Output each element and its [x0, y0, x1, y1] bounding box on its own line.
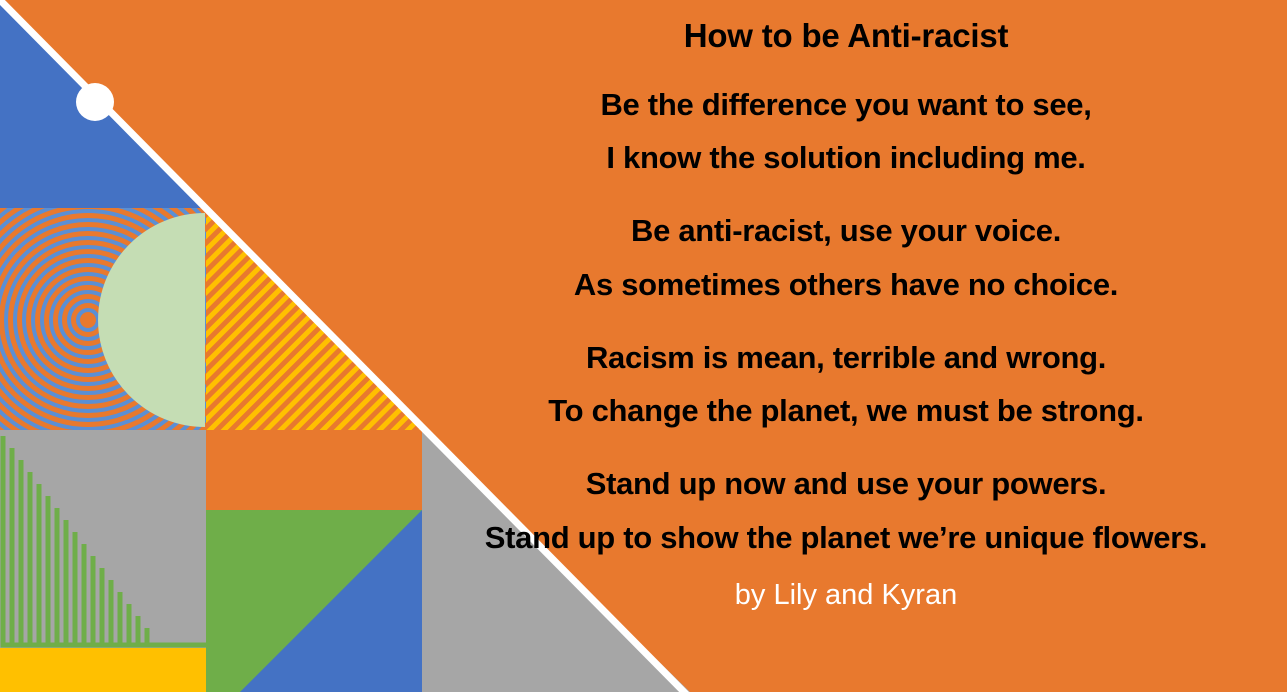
poem-text-column: How to be Anti-racist Be the difference …: [405, 0, 1287, 692]
poem-line: Stand up now and use your powers.: [485, 457, 1207, 510]
concentric-blue-rings: [0, 148, 260, 492]
stanza-3: Racism is mean, terrible and wrong. To c…: [548, 331, 1143, 438]
middle-band: [0, 148, 422, 492]
poem-line: Be the difference you want to see,: [600, 78, 1091, 131]
stanza-2: Be anti-racist, use your voice. As somet…: [574, 204, 1118, 311]
poem-line: Racism is mean, terrible and wrong.: [548, 331, 1143, 384]
page-title: How to be Anti-racist: [684, 16, 1009, 56]
top-band: [0, 0, 206, 208]
byline: by Lily and Kyran: [735, 578, 957, 613]
poster-canvas: How to be Anti-racist Be the difference …: [0, 0, 1287, 692]
blue-triangle-top-left: [0, 0, 206, 208]
poem-line: Be anti-racist, use your voice.: [574, 204, 1118, 257]
poem-line: As sometimes others have no choice.: [574, 258, 1118, 311]
poem-line: To change the planet, we must be strong.: [548, 384, 1143, 437]
green-nested-chevrons: [3, 436, 212, 645]
gray-panel-left: [0, 430, 206, 648]
yellow-striped-triangle: [206, 212, 422, 430]
poem-line: Stand up to show the planet we’re unique…: [485, 511, 1207, 564]
green-square: [206, 510, 422, 692]
orange-band: [206, 430, 422, 510]
blue-triangle-bottom: [240, 510, 422, 692]
yellow-band: [0, 648, 206, 692]
poem-line: I know the solution including me.: [600, 131, 1091, 184]
stanza-1: Be the difference you want to see, I kno…: [600, 78, 1091, 185]
light-green-semicircle: [98, 213, 205, 427]
stanza-4: Stand up now and use your powers. Stand …: [485, 457, 1207, 564]
white-circle-marker: [76, 83, 114, 121]
